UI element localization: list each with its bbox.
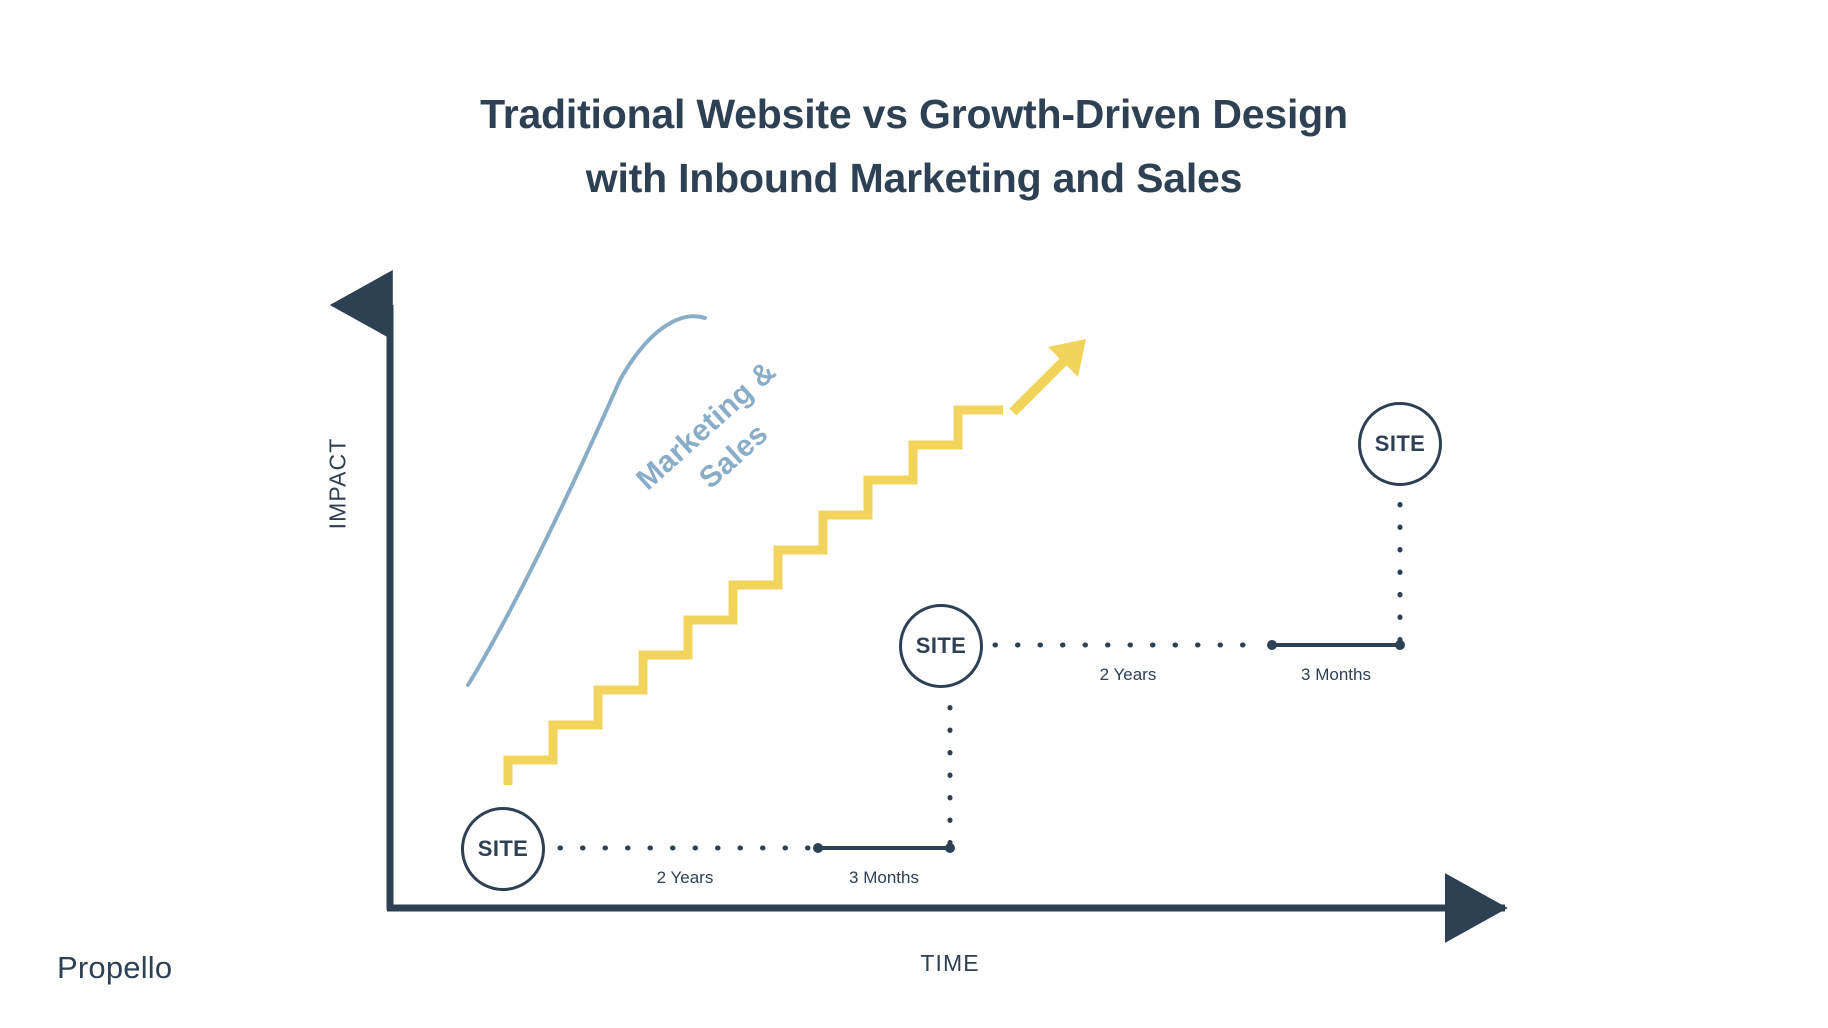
site-node-traditional-3-label: SITE xyxy=(1375,431,1426,457)
trad1-solid-start-dot xyxy=(813,843,823,853)
growth-arrow-icon xyxy=(1013,339,1086,412)
duration-label-trad2-two-years: 2 Years xyxy=(1063,665,1193,685)
duration-label-trad1-two-years: 2 Years xyxy=(620,868,750,888)
x-axis-label: TIME xyxy=(830,950,1070,977)
y-axis-label: IMPACT xyxy=(325,414,352,554)
duration-label-trad2-three-months: 3 Months xyxy=(1271,665,1401,685)
marketing-sales-curve xyxy=(468,316,705,685)
site-node-traditional-1[interactable]: SITE xyxy=(461,807,545,891)
trad2-solid-start-dot xyxy=(1267,640,1277,650)
slide-canvas: Traditional Website vs Growth-Driven Des… xyxy=(0,0,1828,1028)
site-node-traditional-1-label: SITE xyxy=(478,836,529,862)
site-node-traditional-2[interactable]: SITE xyxy=(899,604,983,688)
site-node-traditional-3[interactable]: SITE xyxy=(1358,402,1442,486)
duration-label-trad1-three-months: 3 Months xyxy=(819,868,949,888)
propello-logo: Propello xyxy=(57,950,172,986)
site-node-traditional-2-label: SITE xyxy=(916,633,967,659)
